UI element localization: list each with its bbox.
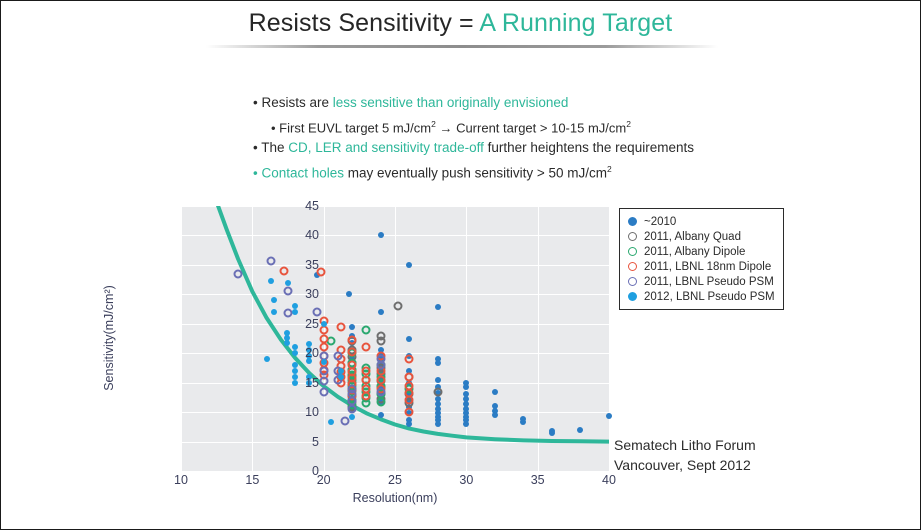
- scatter-point: [405, 408, 414, 417]
- bullet-item: • The CD, LER and sensitivity trade-off …: [253, 138, 813, 159]
- title-accent-text: A Running Target: [479, 9, 672, 37]
- scatter-point: [346, 291, 352, 297]
- scatter-point: [492, 389, 498, 395]
- scatter-point: [348, 404, 357, 413]
- x-axis-tick-label: 40: [602, 473, 616, 487]
- scatter-point: [341, 416, 350, 425]
- gridline-horizontal: [181, 471, 609, 472]
- footer-note: Sematech Litho Forum Vancouver, Sept 201…: [614, 435, 756, 475]
- legend-marker-icon: [628, 217, 637, 226]
- y-axis-tick-label: 45: [279, 199, 319, 213]
- y-axis-tick-label: 10: [279, 405, 319, 419]
- plot-area: [181, 206, 609, 471]
- scatter-point: [321, 321, 327, 327]
- bullet-text: The: [261, 140, 288, 155]
- scatter-point: [378, 412, 384, 418]
- bullet-marker: •: [253, 140, 261, 155]
- scatter-point: [492, 412, 498, 418]
- scatter-point: [406, 421, 412, 427]
- scatter-point: [349, 324, 355, 330]
- legend-label: 2011, Albany Quad: [644, 231, 741, 243]
- y-axis-label: Sensitivity(mJ/cm²): [102, 285, 116, 391]
- slide-root: Resists Sensitivity = A Running Target •…: [0, 0, 921, 530]
- trend-curve: [181, 206, 609, 471]
- scatter-point: [435, 360, 441, 366]
- legend-item: 2011, Albany Quad: [628, 229, 777, 244]
- scatter-point: [376, 375, 385, 384]
- scatter-point: [376, 361, 385, 370]
- legend-marker-icon: [628, 262, 637, 271]
- scatter-point: [292, 309, 298, 315]
- legend-marker-icon: [628, 277, 637, 286]
- scatter-point: [319, 366, 328, 375]
- legend-item: 2012, LBNL Pseudo PSM: [628, 289, 777, 304]
- scatter-point: [362, 325, 371, 334]
- scatter-point: [362, 391, 371, 400]
- legend-label: 2011, Albany Dipole: [644, 246, 745, 258]
- scatter-point: [405, 372, 414, 381]
- scatter-point: [435, 377, 441, 383]
- bullet-marker: •: [271, 120, 279, 135]
- bullet-item: • Resists are less sensitive than origin…: [253, 93, 813, 114]
- y-axis-tick-label: 5: [279, 435, 319, 449]
- scatter-point: [348, 336, 357, 345]
- scatter-point: [520, 419, 526, 425]
- scatter-point: [378, 232, 384, 238]
- scatter-point: [268, 278, 274, 284]
- page-title: Resists Sensitivity = A Running Target: [1, 9, 920, 38]
- y-axis-tick-label: 20: [279, 346, 319, 360]
- scatter-point: [319, 387, 328, 396]
- bullet-text: Resists are: [261, 95, 332, 110]
- scatter-point: [376, 397, 385, 406]
- y-axis-tick-label: 0: [279, 464, 319, 478]
- scatter-point: [549, 430, 555, 436]
- x-axis-tick-label: 10: [174, 473, 188, 487]
- x-axis-label: Resolution(nm): [353, 491, 438, 505]
- scatter-point: [362, 375, 371, 384]
- gridline-vertical: [609, 206, 610, 471]
- scatter-point: [406, 262, 412, 268]
- title-divider: [206, 45, 718, 48]
- bullet-list: • Resists are less sensitive than origin…: [253, 93, 813, 184]
- y-axis-tick-label: 40: [279, 228, 319, 242]
- scatter-point: [463, 384, 469, 390]
- scatter-point: [336, 322, 345, 331]
- legend-label: 2012, LBNL Pseudo PSM: [644, 291, 775, 303]
- scatter-point: [285, 280, 291, 286]
- legend-item: 2011, LBNL Pseudo PSM: [628, 274, 777, 289]
- scatter-point: [349, 414, 355, 420]
- bullet-text: CD, LER and sensitivity trade-off: [288, 140, 484, 155]
- scatter-point: [319, 376, 328, 385]
- scatter-point: [405, 396, 414, 405]
- title-block: Resists Sensitivity = A Running Target: [1, 9, 920, 38]
- x-axis-tick-label: 15: [245, 473, 259, 487]
- scatter-point: [406, 336, 412, 342]
- scatter-point: [606, 413, 612, 419]
- scatter-point: [378, 309, 384, 315]
- scatter-point: [433, 387, 442, 396]
- legend-marker-icon: [628, 247, 637, 256]
- y-axis-tick-label: 30: [279, 287, 319, 301]
- scatter-point: [312, 308, 321, 317]
- x-axis-tick-label: 35: [531, 473, 545, 487]
- bullet-superscript: 2: [626, 119, 631, 129]
- scatter-point: [435, 421, 441, 427]
- bullet-item: • Contact holes may eventually push sens…: [253, 159, 813, 184]
- scatter-point: [234, 269, 243, 278]
- bullet-item: • First EUVL target 5 mJ/cm2 → Current t…: [253, 114, 813, 139]
- bullet-text: less sensitive than originally envisione…: [333, 95, 569, 110]
- y-axis-tick-label: 35: [279, 258, 319, 272]
- bullet-text: → Current target > 10-15 mJ/cm: [436, 120, 626, 135]
- legend-label: 2011, LBNL Pseudo PSM: [644, 276, 774, 288]
- scatter-point: [348, 348, 357, 357]
- scatter-point: [319, 334, 328, 343]
- scatter-point: [266, 256, 275, 265]
- chart-legend: ~20102011, Albany Quad2011, Albany Dipol…: [619, 208, 784, 310]
- scatter-point: [405, 355, 414, 364]
- legend-label: ~2010: [644, 216, 676, 228]
- scatter-point: [362, 343, 371, 352]
- y-axis-tick-label: 15: [279, 376, 319, 390]
- scatter-point: [338, 374, 344, 380]
- scatter-point: [376, 337, 385, 346]
- scatter-point: [284, 340, 290, 346]
- bullet-superscript: 2: [607, 164, 612, 174]
- legend-label: 2011, LBNL 18nm Dipole: [644, 261, 771, 273]
- footer-note-line1: Sematech Litho Forum: [614, 435, 756, 455]
- scatter-point: [393, 302, 402, 311]
- legend-item: ~2010: [628, 214, 777, 229]
- legend-item: 2011, LBNL 18nm Dipole: [628, 259, 777, 274]
- legend-item: 2011, Albany Dipole: [628, 244, 777, 259]
- scatter-point: [264, 356, 270, 362]
- scatter-point: [271, 297, 277, 303]
- legend-marker-icon: [628, 232, 637, 241]
- y-axis-tick-label: 25: [279, 317, 319, 331]
- x-axis-tick-label: 20: [317, 473, 331, 487]
- scatter-point: [333, 352, 342, 361]
- bullet-text: further heightens the requirements: [484, 140, 694, 155]
- scatter-point: [463, 421, 469, 427]
- title-main-text: Resists Sensitivity =: [249, 9, 480, 37]
- scatter-point: [271, 309, 277, 315]
- scatter-point: [435, 304, 441, 310]
- bullet-text: Contact holes: [261, 165, 344, 180]
- scatter-point: [328, 419, 334, 425]
- scatter-point: [577, 427, 583, 433]
- scatter-point: [321, 359, 327, 365]
- legend-marker-icon: [628, 292, 637, 301]
- scatter-point: [362, 366, 371, 375]
- x-axis-tick-label: 25: [388, 473, 402, 487]
- scatter-point: [376, 387, 385, 396]
- footer-note-line2: Vancouver, Sept 2012: [614, 455, 756, 475]
- bullet-text: First EUVL target 5 mJ/cm: [279, 120, 431, 135]
- x-axis-tick-label: 30: [459, 473, 473, 487]
- scatter-point: [319, 343, 328, 352]
- bullet-text: may eventually push sensitivity > 50 mJ/…: [344, 165, 607, 180]
